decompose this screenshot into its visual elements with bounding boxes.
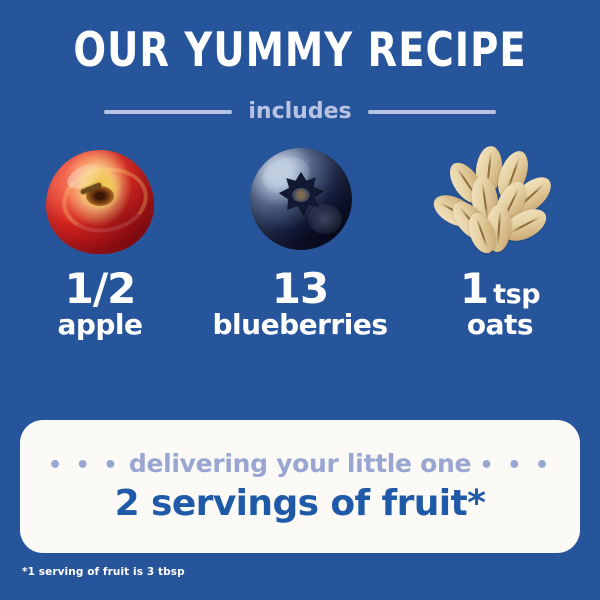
divider-line-right — [368, 110, 496, 114]
ingredient-list: 1/2 apple 13 blueberries — [0, 142, 600, 367]
blueberries-labels: 13 blueberries — [213, 268, 388, 339]
footnote: *1 serving of fruit is 3 tbsp — [22, 566, 185, 578]
includes-divider-row: includes — [0, 98, 600, 126]
page-title: OUR YUMMY RECIPE — [54, 27, 546, 74]
blueberry-icon — [240, 142, 360, 260]
servings-callout-card: • • • delivering your little one • • • 2… — [20, 420, 580, 553]
apple-name: apple — [57, 311, 142, 338]
blueberries-name: blueberries — [213, 311, 388, 338]
ingredient-item-blueberries: 13 blueberries — [200, 142, 400, 367]
callout-tagline: • • • delivering your little one • • • — [48, 451, 552, 477]
ingredient-item-apple: 1/2 apple — [0, 142, 200, 367]
dots-right: • • • — [480, 453, 553, 478]
oats-labels: 1tsp oats — [460, 268, 540, 339]
ingredient-item-oats: 1tsp oats — [400, 142, 600, 367]
apple-icon — [40, 142, 160, 260]
oats-amount: 1 — [460, 268, 488, 309]
callout-headline: 2 servings of fruit* — [115, 486, 486, 522]
oats-unit: tsp — [493, 282, 540, 308]
includes-label: includes — [248, 101, 351, 123]
dots-left: • • • — [48, 453, 121, 478]
divider-line-left — [104, 110, 232, 114]
header: OUR YUMMY RECIPE includes — [0, 0, 600, 140]
oats-icon — [440, 142, 560, 260]
blueberries-amount: 13 — [272, 268, 328, 309]
tagline-text: delivering your little one — [129, 449, 471, 478]
oats-name: oats — [460, 311, 540, 338]
apple-amount: 1/2 — [65, 268, 136, 309]
apple-labels: 1/2 apple — [57, 268, 142, 339]
